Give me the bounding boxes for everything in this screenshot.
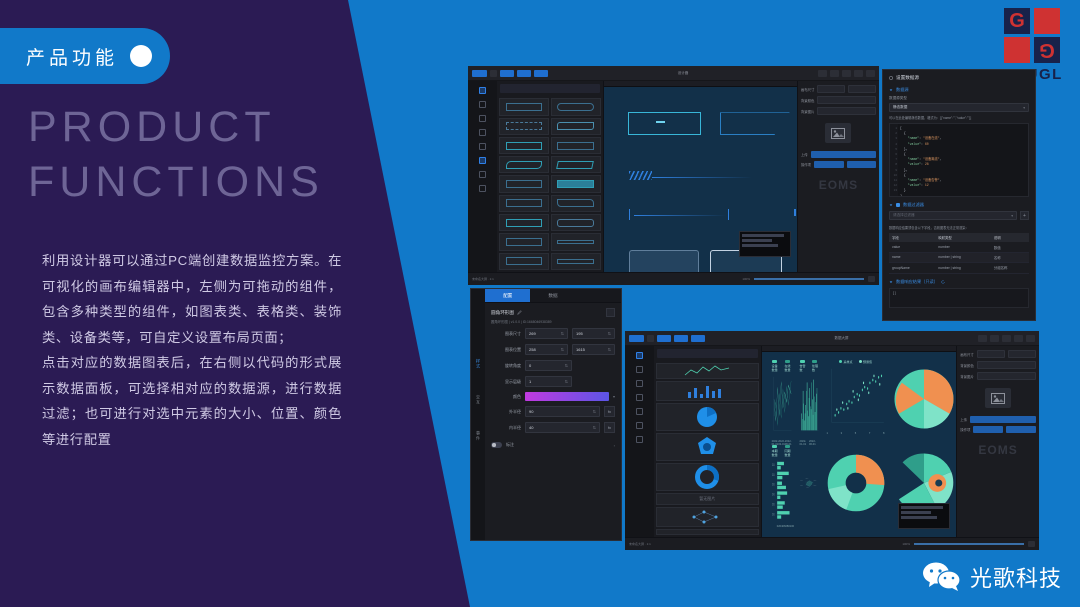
chart-bar[interactable]: 告警数 处理数: [800, 360, 819, 437]
chart-donut-plot: [827, 445, 885, 522]
table-row: groupName number | string 分组名称: [889, 263, 1029, 273]
designer-ctl-2[interactable]: [830, 70, 839, 77]
input-chart-height[interactable]: 195 ⇅: [572, 328, 615, 339]
rail-icon-text[interactable]: [636, 380, 643, 387]
rail-icon-border[interactable]: [479, 157, 486, 164]
filter-enable-checkbox[interactable]: [896, 203, 900, 207]
body-paragraph-2: 点击对应的数据图表后，在右侧以代码的形式展示数据面板，可选择相对应的数据源，进行…: [42, 350, 342, 452]
designer-fit-button[interactable]: [868, 276, 875, 282]
canvas-width-input[interactable]: [977, 350, 1005, 358]
stepper-chart-height[interactable]: ⇅: [608, 331, 611, 336]
annotation-toggle[interactable]: [491, 442, 502, 448]
grugl-cell-4: G: [1034, 37, 1060, 63]
rail-icon-media[interactable]: [636, 394, 643, 401]
properties-side-rail[interactable]: 样式 交互 事件: [471, 289, 485, 540]
designer-properties-panel[interactable]: 画布尺寸 背景颜色 背景图片: [797, 81, 879, 272]
row-annotation[interactable]: 标注 ›: [491, 438, 615, 452]
rail-icon-map[interactable]: [636, 436, 643, 443]
data-config-panel[interactable]: 设置数据源 数据源 数据源类型 静态数据 ▾ 可以在此处编辑静态数据，格式为：[…: [883, 70, 1035, 320]
component-title: 圆角环形图: [491, 310, 514, 316]
clear-bg-button[interactable]: [1006, 426, 1036, 433]
palette-item[interactable]: [499, 118, 549, 135]
dashboard-canvas[interactable]: 设备数量 在线数量: [762, 346, 957, 537]
palette-item-pie-chart[interactable]: [656, 403, 759, 431]
relation-chart-thumb-icon: [684, 508, 730, 526]
screenshot-dashboard: 数据大屏: [625, 331, 1039, 550]
chart-pie-plot: [893, 360, 955, 437]
cell-desc: 数值: [991, 242, 1029, 252]
legend-item: 告警数: [800, 360, 807, 372]
page-title: PRODUCT FUNCTIONS: [28, 100, 368, 210]
canvas-deco-label-1: [656, 121, 665, 123]
value-outer-radius: 90: [529, 409, 533, 414]
canvas-deco-line-2: [634, 215, 726, 216]
th-desc: 说明: [991, 233, 1029, 242]
palette-search-input[interactable]: [657, 349, 758, 358]
table-row: name number | string 名称: [889, 252, 1029, 262]
value-rotation: 0: [529, 363, 531, 368]
scatter-chart-svg: [827, 366, 885, 431]
canvas-height-input[interactable]: [1008, 350, 1036, 358]
actions-row[interactable]: 操作项: [960, 426, 1036, 433]
palette-search-input[interactable]: [500, 84, 600, 93]
rail-icon-decor[interactable]: [636, 408, 643, 415]
color-dropdown-icon[interactable]: ▾: [613, 394, 615, 399]
stepper-chart-x[interactable]: ⇅: [561, 347, 564, 352]
screenshot-designer: 设计器: [468, 66, 879, 285]
upload-button[interactable]: [811, 151, 876, 158]
palette-item[interactable]: [551, 137, 601, 154]
bg-color-label: 背景颜色: [960, 363, 974, 368]
designer-titlebar: 设计器: [468, 66, 879, 81]
chart-grid: 设备数量 在线数量: [772, 360, 947, 522]
clear-bg-button[interactable]: [847, 161, 877, 168]
palette-item[interactable]: [551, 233, 601, 250]
label-chart-size: 图表尺寸: [491, 331, 521, 337]
value-zindex: 1: [529, 379, 531, 384]
code-gutter: 12345678910111213: [890, 124, 898, 196]
body-copy: 利用设计器可以通过PC端创建数据监控方案。在可视化的画布编辑器中，左侧为可拖动的…: [42, 248, 342, 452]
bar-chart-thumb-icon: [684, 382, 730, 400]
rail-icon-chart[interactable]: [636, 352, 643, 359]
palette-item[interactable]: [499, 98, 549, 115]
xtick: 3: [841, 432, 842, 435]
th-field: 字段: [889, 233, 935, 242]
svg-text:2022-06-01: 2022-06-01: [772, 511, 775, 517]
dashboard-minimap[interactable]: [898, 503, 950, 529]
reset-bg-button[interactable]: [814, 161, 844, 168]
palette-item[interactable]: [499, 214, 549, 231]
dashboard-statusbar: 未命名大屏 · 1:1 100%: [625, 537, 1039, 550]
rail-icon-table[interactable]: [479, 101, 486, 108]
dashboard-zoom-level: 100%: [902, 542, 910, 546]
static-data-code-editor[interactable]: 12345678910111213 [ { "name": "设备在线", "v…: [889, 123, 1029, 197]
label-rotation: 旋转角度: [491, 363, 521, 369]
input-rotation[interactable]: 0 ⇅: [525, 360, 572, 371]
legend-item: 设备数量: [772, 360, 779, 372]
row-zindex[interactable]: 显示层级 1 ⇅: [491, 376, 615, 387]
canvas-deco-hatch[interactable]: [629, 171, 652, 180]
screenshot-data-config: 设置数据源 数据源 数据源类型 静态数据 ▾ 可以在此处编辑静态数据，格式为：[…: [882, 69, 1036, 321]
value-chart-width: 269: [529, 331, 536, 336]
dashboard-toolbar-redo[interactable]: [691, 335, 705, 342]
chart-hbar-plot: 2022-01-01 2022-02-01 2022-03-01 2022-04…: [772, 459, 792, 524]
palette-item-line-chart[interactable]: [656, 363, 759, 379]
label-inner-radius: 内半径: [491, 425, 521, 431]
chart-scatter-xaxis: 1 3 5 7 8: [827, 432, 885, 435]
chart-bar-legend: 告警数 处理数: [800, 360, 819, 372]
properties-main: 配置 数据 圆角环形图 圆角环形图 | v1.0.0 | ID:16680469…: [485, 289, 621, 540]
side-tab-event[interactable]: 事件: [475, 431, 481, 441]
bg-color-row[interactable]: 背景颜色: [960, 361, 1036, 369]
dashboard-body: 暂无图片: [625, 346, 1039, 537]
dashboard-watermark: EOMS: [960, 443, 1036, 457]
palette-item-bar-chart[interactable]: [656, 381, 759, 401]
svg-text:2022-06-01: 2022-06-01: [800, 480, 803, 481]
grugl-cell-3: [1004, 37, 1030, 63]
table-header-row: 字段 映射类型 说明: [889, 233, 1029, 242]
canvas-height-input[interactable]: [848, 85, 876, 93]
cell-type: number: [935, 242, 991, 252]
designer-watermark: EOMS: [801, 178, 876, 192]
canvas-width-input[interactable]: [817, 85, 845, 93]
section-datasource-label: 数据源: [896, 87, 909, 93]
stepper-inner-radius[interactable]: ⇅: [593, 425, 596, 430]
canvas-size-label: 画布尺寸: [801, 87, 815, 92]
palette-item-donut-chart[interactable]: [656, 463, 759, 491]
palette-item-image[interactable]: 暂无图片: [656, 493, 759, 504]
tab-config[interactable]: 配置: [485, 289, 530, 302]
value-chart-x: 258: [529, 347, 536, 352]
palette-item-relation-chart[interactable]: [656, 507, 759, 527]
svg-text:2022-04-01: 2022-04-01: [772, 492, 775, 498]
row-inner-radius[interactable]: 内半径 40 ⇅ fx: [491, 422, 615, 433]
row-outer-radius[interactable]: 外半径 90 ⇅ fx: [491, 406, 615, 417]
chart-line-legend: 设备数量 在线数量: [772, 360, 792, 372]
delete-component-button[interactable]: [606, 308, 615, 317]
dashboard-ctl-3[interactable]: [1002, 335, 1011, 342]
designer-body: 画布尺寸 背景颜色 背景图片: [468, 81, 879, 272]
headline-line-2: FUNCTIONS: [28, 155, 368, 210]
filter-placeholder: 请选择过滤器: [893, 213, 915, 218]
label-color: 颜色: [491, 394, 521, 400]
tab-data[interactable]: 数据: [530, 289, 575, 302]
stepper-chart-y[interactable]: ⇅: [608, 347, 611, 352]
section-filter[interactable]: 数据过滤器: [889, 202, 1029, 208]
rail-icon-table[interactable]: [636, 366, 643, 373]
headline-line-1: PRODUCT: [28, 100, 368, 155]
row-color[interactable]: 颜色 ▾: [491, 392, 615, 401]
input-inner-radius[interactable]: 40 ⇅: [525, 422, 600, 433]
designer-canvas-name: 未命名大屏 · 1:1: [472, 277, 494, 281]
cell-type: number | string: [935, 263, 991, 273]
chart-donut[interactable]: [827, 445, 885, 522]
refresh-icon[interactable]: [941, 280, 945, 284]
image-placeholder-icon[interactable]: [985, 388, 1011, 408]
dashboard-zoom-slider[interactable]: [914, 543, 1024, 545]
legend-item: 预测值: [859, 360, 873, 364]
properties-tabs[interactable]: 配置 数据: [485, 289, 621, 303]
line-chart-svg: [772, 374, 792, 439]
dashboard-properties-panel[interactable]: 画布尺寸 背景颜色 背景图片: [956, 346, 1039, 537]
svg-text:2022-04-01: 2022-04-01: [806, 487, 809, 488]
row-chart-size[interactable]: 图表尺寸 269 ⇅ 195 ⇅: [491, 328, 615, 339]
palette-item[interactable]: [551, 175, 601, 192]
section-datasource[interactable]: 数据源: [889, 87, 1029, 93]
edit-pencil-icon[interactable]: [517, 310, 522, 315]
legend-item: 处理数: [812, 360, 819, 372]
filter-select[interactable]: 请选择过滤器 ▾: [889, 211, 1017, 220]
upload-row[interactable]: 上传: [801, 151, 876, 158]
label-chart-position: 图表位置: [491, 347, 521, 353]
label-outer-radius: 外半径: [491, 409, 521, 415]
chart-scatter-plot: [827, 366, 885, 431]
image-placeholder-icon[interactable]: [825, 123, 851, 143]
rail-icon-decor[interactable]: [479, 143, 486, 150]
bg-color-input[interactable]: [817, 96, 876, 104]
dashboard-toolbar-save[interactable]: [629, 335, 644, 342]
screenshot-properties: 样式 交互 事件 配置 数据 圆角环形图: [470, 288, 622, 541]
designer-toolbar-save[interactable]: [472, 70, 487, 77]
bg-color-row[interactable]: 背景颜色: [801, 96, 876, 104]
canvas-surface[interactable]: [604, 87, 797, 265]
properties-header: 圆角环形图 圆角环形图 | v1.0.0 | ID:1668046938389: [485, 303, 621, 324]
picture-icon: [991, 393, 1005, 404]
xtick: 100: [790, 525, 794, 528]
rail-icon-media[interactable]: [479, 129, 486, 136]
canvas-size-row[interactable]: 画布尺寸: [960, 350, 1036, 358]
side-tab-data[interactable]: 交互: [475, 395, 481, 405]
svg-text:2022-05-01: 2022-05-01: [800, 485, 803, 486]
pie-chart-thumb-icon: [694, 404, 720, 430]
palette-item[interactable]: [499, 195, 549, 212]
chart-radar-plot: 2022-01-01 2022-02-01 2022-03-01 2022-04…: [800, 445, 819, 522]
bg-image-row[interactable]: 背景图片: [801, 107, 876, 115]
palette-item[interactable]: [499, 156, 549, 173]
chevron-down-icon: [889, 203, 893, 207]
palette-item[interactable]: [551, 195, 601, 212]
palette-item[interactable]: [499, 233, 549, 250]
grugl-cell-2: [1034, 8, 1060, 34]
dashboard-ctl-1[interactable]: [978, 335, 987, 342]
add-filter-button[interactable]: +: [1020, 211, 1029, 220]
designer-zoom-slider[interactable]: [754, 278, 864, 280]
palette-item-rose-chart[interactable]: [656, 433, 759, 461]
color-gradient-swatch[interactable]: [525, 392, 609, 401]
section-badge: 产品功能: [0, 28, 170, 84]
reset-bg-button[interactable]: [973, 426, 1003, 433]
canvas-deco-border-2[interactable]: [720, 112, 790, 135]
chart-pie[interactable]: [893, 360, 955, 437]
palette-item[interactable]: [499, 137, 549, 154]
bg-color-input[interactable]: [977, 361, 1036, 369]
table-hint: 数据响应结果须包含以下字段，否则图表无法正常渲染：: [889, 225, 1029, 230]
palette-item[interactable]: [499, 253, 549, 270]
chart-hbar[interactable]: 本期数量 同期数量 2022-01-01 2022-02-01 2022-03-…: [772, 445, 792, 522]
palette-item[interactable]: [551, 214, 601, 231]
stepper-chart-width[interactable]: ⇅: [561, 331, 564, 336]
source-type-value: 静态数据: [893, 105, 907, 110]
value-chart-y: 1615: [576, 347, 585, 352]
canvas-size-row[interactable]: 画布尺寸: [801, 85, 876, 93]
side-tab-style[interactable]: 样式: [475, 359, 481, 369]
dashboard-titlebar: 数据大屏: [625, 331, 1039, 346]
dashboard-toolbar-sep: [647, 335, 654, 342]
svg-text:2022-01-01: 2022-01-01: [805, 478, 808, 479]
rail-icon-chart[interactable]: [479, 87, 486, 94]
properties-rows[interactable]: 图表尺寸 269 ⇅ 195 ⇅ 图表位置 258: [485, 324, 621, 456]
dashboard-fit-button[interactable]: [1028, 541, 1035, 547]
actions-label: 操作项: [801, 162, 811, 167]
cell-type: number | string: [935, 252, 991, 262]
upload-row[interactable]: 上传: [960, 416, 1036, 423]
designer-window-title: 设计器: [551, 71, 815, 76]
table-row: value number 数值: [889, 242, 1029, 252]
xtick: 8: [883, 432, 884, 435]
row-rotation[interactable]: 旋转角度 0 ⇅: [491, 360, 615, 371]
dashboard-ctl-2[interactable]: [990, 335, 999, 342]
designer-canvas[interactable]: [604, 81, 797, 272]
designer-app: 设计器: [468, 66, 879, 285]
dashboard-window-controls[interactable]: [978, 335, 1035, 342]
filter-select-row[interactable]: 请选择过滤器 ▾ +: [889, 211, 1029, 220]
canvas-deco-ticks[interactable]: [794, 209, 797, 216]
designer-toolbar-redo[interactable]: [534, 70, 548, 77]
data-config-title-text: 设置数据源: [896, 75, 919, 81]
actions-row[interactable]: 操作项: [801, 161, 876, 168]
section-result[interactable]: 数据响应结果（只读）: [889, 279, 1029, 285]
designer-ctl-4[interactable]: [854, 70, 863, 77]
input-chart-width[interactable]: 269 ⇅: [525, 328, 568, 339]
section-result-label: 数据响应结果（只读）: [896, 279, 938, 285]
source-type-label: 数据源类型: [889, 96, 1029, 101]
designer-statusbar: 未命名大屏 · 1:1 100%: [468, 272, 879, 285]
bg-image-input[interactable]: [817, 107, 876, 115]
palette-item[interactable]: [551, 253, 601, 270]
chart-radar[interactable]: 2022-01-01 2022-02-01 2022-03-01 2022-04…: [800, 445, 819, 522]
rose-chart-thumb-icon: [694, 434, 720, 460]
body-paragraph-1: 利用设计器可以通过PC端创建数据监控方案。在可视化的画布编辑器中，左侧为可拖动的…: [42, 248, 342, 350]
dashboard-app: 数据大屏: [625, 331, 1039, 550]
data-config-title: 设置数据源: [889, 75, 1029, 81]
dashboard-ctl-5[interactable]: [1026, 335, 1035, 342]
cell-field: value: [889, 242, 935, 252]
chevron-down-icon: [889, 88, 893, 92]
row-chart-position[interactable]: 图表位置 258 ⇅ 1615 ⇅: [491, 344, 615, 355]
svg-text:2022-01-01: 2022-01-01: [772, 462, 775, 468]
legend-item: 同期数量: [785, 445, 792, 457]
palette-item[interactable]: [551, 98, 601, 115]
designer-ctl-5[interactable]: [866, 70, 875, 77]
designer-toolbar-sep: [490, 70, 497, 77]
designer-ctl-3[interactable]: [842, 70, 851, 77]
legend-item: 本期数量: [772, 445, 779, 457]
picture-icon: [831, 128, 845, 139]
source-type-select[interactable]: 静态数据 ▾: [889, 103, 1029, 112]
slide-root: 产品功能 PRODUCT FUNCTIONS 利用设计器可以通过PC端创建数据监…: [0, 0, 1080, 607]
svg-text:2022-03-01: 2022-03-01: [772, 482, 775, 488]
designer-toolbar-undo[interactable]: [517, 70, 531, 77]
designer-palette[interactable]: [497, 81, 604, 272]
rail-icon-device[interactable]: [636, 422, 643, 429]
rail-icon-device[interactable]: [479, 171, 486, 178]
dashboard-toolbar-undo[interactable]: [674, 335, 688, 342]
chart-line[interactable]: 设备数量 在线数量: [772, 360, 792, 437]
canvas-deco-line-1: [652, 177, 752, 178]
upload-button[interactable]: [970, 416, 1036, 423]
palette-item[interactable]: [551, 156, 601, 173]
input-zindex[interactable]: 1 ⇅: [525, 376, 572, 387]
palette-item[interactable]: [499, 175, 549, 192]
wechat-footer: 光歌科技: [922, 561, 1062, 593]
wechat-icon: [922, 561, 962, 593]
stepper-outer-radius[interactable]: ⇅: [593, 409, 596, 414]
designer-zoom-level: 100%: [742, 277, 750, 281]
section-badge-label: 产品功能: [26, 43, 118, 70]
designer-window-controls[interactable]: [818, 70, 875, 77]
legend-item: 在线数量: [785, 360, 792, 372]
cell-field: groupName: [889, 263, 935, 273]
stepper-zindex[interactable]: ⇅: [565, 379, 568, 384]
canvas-deco-panel-1[interactable]: [629, 250, 699, 272]
dashboard-palette[interactable]: 暂无图片: [654, 346, 762, 537]
dashboard-ctl-4[interactable]: [1014, 335, 1023, 342]
field-mapping-table: 字段 映射类型 说明 value number 数值 name number |…: [889, 233, 1029, 274]
upload-label: 上传: [960, 417, 967, 422]
actions-label: 操作项: [960, 427, 970, 432]
cell-desc: 分组名称: [991, 263, 1029, 273]
input-chart-x[interactable]: 258 ⇅: [525, 344, 568, 355]
dashboard-rail[interactable]: [625, 346, 654, 537]
chart-scatter[interactable]: 采样点 预测值: [827, 360, 885, 437]
grugl-cell-1: G: [1004, 8, 1030, 34]
designer-toolbar-preview[interactable]: [500, 70, 514, 77]
result-output: [ ]: [889, 288, 1029, 308]
designer-rail[interactable]: [468, 81, 497, 272]
badge-dot-icon: [130, 45, 152, 67]
outer-radius-fx-button[interactable]: fx: [604, 406, 615, 417]
donut-chart-thumb-icon: [694, 464, 720, 490]
bg-image-row[interactable]: 背景图片: [960, 372, 1036, 380]
annotation-expand-icon[interactable]: ›: [614, 443, 615, 448]
rail-icon-map[interactable]: [479, 185, 486, 192]
component-title-row: 圆角环形图: [491, 308, 615, 317]
xtick: 7: [869, 432, 870, 435]
tab-spacer: [576, 289, 621, 302]
properties-panel[interactable]: 样式 交互 事件 配置 数据 圆角环形图: [471, 289, 621, 540]
canvas-minimap[interactable]: [739, 231, 791, 257]
palette-grid[interactable]: [497, 96, 603, 272]
canvas-deco-border-1[interactable]: [628, 112, 701, 135]
value-chart-height: 195: [576, 331, 583, 336]
input-chart-y[interactable]: 1615 ⇅: [572, 344, 615, 355]
dashboard-canvas-name: 未命名大屏 · 1:1: [629, 542, 651, 546]
grugl-logo-mark: G G: [1004, 8, 1060, 63]
palette-item[interactable]: [551, 118, 601, 135]
bg-image-input[interactable]: [977, 372, 1036, 380]
dashboard-toolbar-preview[interactable]: [657, 335, 671, 342]
input-outer-radius[interactable]: 90 ⇅: [525, 406, 600, 417]
inner-radius-fx-button[interactable]: fx: [604, 422, 615, 433]
designer-ctl-1[interactable]: [818, 70, 827, 77]
section-filter-label: 数据过滤器: [903, 202, 924, 208]
stepper-rotation[interactable]: ⇅: [565, 363, 568, 368]
xtick: 5: [855, 432, 856, 435]
rail-icon-text[interactable]: [479, 115, 486, 122]
settings-icon: [889, 76, 893, 80]
palette-item-table[interactable]: [656, 529, 759, 535]
value-inner-radius: 40: [529, 425, 533, 430]
